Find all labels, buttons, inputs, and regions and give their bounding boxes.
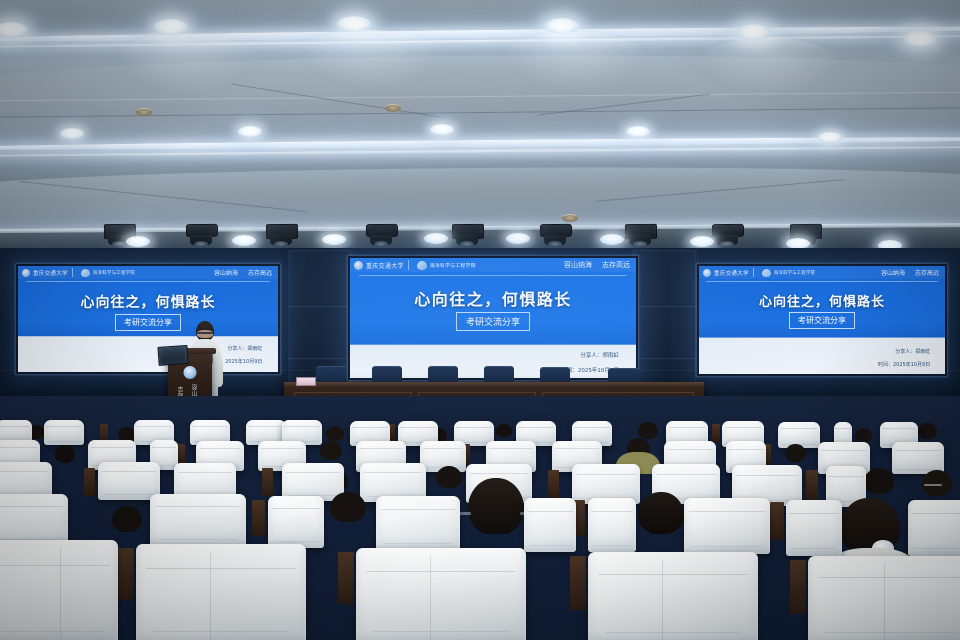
university-name: 重庆交通大学 bbox=[714, 269, 749, 277]
slide-presenter: 分享人：郑雨虹 bbox=[895, 348, 930, 355]
truss-downlight bbox=[424, 233, 448, 244]
audience-chair[interactable] bbox=[684, 498, 770, 554]
truss-downlight bbox=[322, 234, 346, 245]
left-slide: 重庆交通大学 海洋科学与工程学院 容山纳海 志存高远 心向往之，何惧路长 考研交… bbox=[18, 266, 278, 372]
light-pool bbox=[694, 38, 844, 96]
ceiling-downlight bbox=[60, 128, 84, 139]
podium-emblem-icon bbox=[184, 366, 197, 379]
seat-gap bbox=[118, 548, 134, 600]
right-screen[interactable]: 重庆交通大学 海洋科学与工程学院 容山纳海 志存高远 心向往之，何惧路长 考研交… bbox=[697, 264, 947, 376]
audience-chair[interactable] bbox=[786, 500, 842, 556]
slide-header: 重庆交通大学 海洋科学与工程学院 容山纳海 志存高远 bbox=[699, 266, 945, 279]
truss-downlight bbox=[690, 236, 714, 247]
slide-title: 心向往之，何惧路长 bbox=[699, 291, 945, 310]
logo-divider bbox=[753, 268, 754, 277]
seat-gap bbox=[84, 468, 95, 496]
laptop[interactable] bbox=[157, 345, 186, 364]
ceiling-downlight bbox=[903, 31, 937, 47]
ceiling-downlight bbox=[238, 126, 262, 137]
center-screen[interactable]: 重庆交通大学 海洋科学与工程学院 容山纳海 志存高远 心向往之，何惧路长 考研交… bbox=[348, 256, 638, 380]
audience-chair[interactable] bbox=[44, 420, 84, 445]
slide-title: 心向往之，何惧路长 bbox=[18, 292, 278, 312]
wall-seam bbox=[288, 250, 289, 396]
wave-icon bbox=[762, 269, 771, 277]
wall-seam bbox=[632, 358, 698, 359]
college-name: 海洋科学与工程学院 bbox=[430, 262, 476, 269]
slide-rule bbox=[706, 281, 937, 282]
stage-spotlight bbox=[266, 224, 296, 246]
audience-head bbox=[118, 427, 135, 441]
university-logo: 重庆交通大学 bbox=[350, 261, 404, 270]
audience-head bbox=[320, 441, 342, 460]
logo-divider bbox=[72, 268, 73, 277]
seat-gap bbox=[262, 468, 273, 496]
slide-title: 心向往之，何惧路长 bbox=[350, 286, 636, 310]
laptop-screen bbox=[157, 345, 188, 366]
university-emblem-icon bbox=[354, 261, 363, 270]
seat-gap bbox=[570, 556, 586, 610]
audience-head bbox=[112, 506, 142, 532]
audience-chair[interactable] bbox=[376, 496, 460, 550]
center-slide: 重庆交通大学 海洋科学与工程学院 容山纳海 志存高远 心向往之，何惧路长 考研交… bbox=[350, 258, 636, 378]
slide-presenter: 分享人：郑雨虹 bbox=[227, 345, 262, 352]
stage-spotlight bbox=[366, 224, 396, 246]
motto-left: 容山纳海 bbox=[564, 260, 592, 270]
slide-subtitle: 考研交流分享 bbox=[115, 314, 181, 331]
truss-downlight bbox=[506, 233, 530, 244]
audience-head bbox=[468, 478, 524, 534]
wall-panel bbox=[634, 250, 696, 396]
seat-gap bbox=[338, 552, 354, 604]
smoke-detector bbox=[385, 104, 401, 112]
audience-chair[interactable] bbox=[588, 498, 636, 552]
slide-header: 重庆交通大学 海洋科学与工程学院 容山纳海 志存高远 bbox=[350, 258, 636, 272]
right-slide: 重庆交通大学 海洋科学与工程学院 容山纳海 志存高远 心向往之，何惧路长 考研交… bbox=[699, 266, 945, 374]
audience-chair[interactable] bbox=[588, 552, 758, 640]
audience-head bbox=[864, 468, 894, 494]
audience-glasses bbox=[924, 484, 942, 486]
seat-gap bbox=[548, 470, 559, 498]
audience-head bbox=[855, 428, 872, 442]
smoke-detector bbox=[136, 108, 152, 116]
left-screen[interactable]: 重庆交通大学 海洋科学与工程学院 容山纳海 志存高远 心向往之，何惧路长 考研交… bbox=[16, 264, 280, 374]
university-name: 重庆交通大学 bbox=[33, 269, 68, 277]
college-name: 海洋科学与工程学院 bbox=[93, 270, 135, 276]
slide-date: 时间：2025年10月9日 bbox=[878, 361, 930, 368]
audience-head bbox=[638, 422, 658, 439]
slide-rule bbox=[359, 275, 628, 276]
ceiling-downlight bbox=[818, 132, 842, 143]
truss-downlight bbox=[600, 234, 624, 245]
audience-chair[interactable] bbox=[0, 540, 118, 640]
slide-subtitle: 考研交流分享 bbox=[456, 312, 530, 331]
wave-icon bbox=[417, 261, 427, 270]
chair-fold bbox=[884, 564, 885, 640]
ceiling-downlight bbox=[154, 19, 188, 35]
audience-chair[interactable] bbox=[0, 494, 68, 546]
truss-downlight bbox=[232, 235, 256, 246]
seat-gap bbox=[806, 470, 818, 500]
audience-head bbox=[326, 426, 344, 441]
college-logo: 海洋科学与工程学院 bbox=[413, 261, 476, 270]
motto-right: 志存高远 bbox=[602, 260, 630, 270]
college-name: 海洋科学与工程学院 bbox=[774, 270, 815, 276]
audience-head bbox=[638, 492, 684, 534]
wall-seam bbox=[288, 306, 354, 307]
ceiling bbox=[0, 0, 960, 252]
chair-fold bbox=[210, 552, 211, 640]
audience-head bbox=[922, 470, 952, 496]
audience-chair[interactable] bbox=[356, 548, 526, 640]
ceiling-downlight bbox=[0, 22, 28, 38]
stage-spotlight bbox=[186, 224, 216, 246]
light-pool bbox=[296, 30, 446, 88]
stage-spotlight bbox=[540, 224, 570, 246]
truss-downlight bbox=[126, 236, 150, 247]
chair-fold bbox=[430, 556, 431, 640]
slide-rule bbox=[26, 281, 270, 282]
university-name: 重庆交通大学 bbox=[366, 261, 404, 270]
slide-motto: 容山纳海 志存高远 bbox=[564, 260, 636, 270]
wall-seam bbox=[288, 358, 354, 359]
slide-motto: 容山纳海 志存高远 bbox=[214, 268, 278, 277]
university-emblem-icon bbox=[22, 269, 30, 277]
slide-header: 重庆交通大学 海洋科学与工程学院 容山纳海 志存高远 bbox=[18, 266, 278, 279]
university-emblem-icon bbox=[703, 269, 711, 277]
audience-head bbox=[436, 466, 462, 488]
university-logo: 重庆交通大学 bbox=[18, 269, 68, 277]
motto-left: 容山纳海 bbox=[881, 268, 905, 277]
audience-head bbox=[785, 444, 806, 462]
audience-head bbox=[496, 424, 512, 437]
desk-nameplate bbox=[296, 377, 316, 386]
audience-chair[interactable] bbox=[268, 496, 324, 548]
slide-presenter: 分享人：郑雨虹 bbox=[580, 351, 619, 359]
stage-spotlight bbox=[625, 224, 655, 246]
slide-subtitle: 考研交流分享 bbox=[789, 312, 855, 329]
seat-gap bbox=[712, 424, 720, 442]
stage-spotlight bbox=[712, 224, 742, 246]
college-logo: 海洋科学与工程学院 bbox=[758, 269, 815, 277]
motto-right: 志存高远 bbox=[915, 268, 939, 277]
audience-chair[interactable] bbox=[98, 462, 160, 500]
motto-left: 容山纳海 bbox=[214, 268, 238, 277]
chair-fold bbox=[662, 560, 663, 640]
light-pool bbox=[110, 34, 260, 92]
audience-head bbox=[55, 445, 75, 463]
ceiling-downlight bbox=[430, 124, 454, 135]
desk-top-edge bbox=[284, 382, 704, 387]
audience-chair[interactable] bbox=[150, 494, 246, 546]
stage-spotlight bbox=[452, 224, 482, 246]
slide-motto: 容山纳海 志存高远 bbox=[881, 268, 945, 277]
wall-seam bbox=[632, 306, 698, 307]
audience-head bbox=[918, 423, 937, 439]
light-pool bbox=[500, 32, 650, 90]
university-logo: 重庆交通大学 bbox=[699, 269, 749, 277]
speaker-glasses bbox=[197, 332, 213, 334]
seat-gap bbox=[252, 500, 265, 536]
motto-right: 志存高远 bbox=[248, 268, 272, 277]
chair-fold bbox=[60, 548, 61, 638]
wave-icon bbox=[81, 269, 90, 277]
lecture-hall-photo: 重庆交通大学 海洋科学与工程学院 容山纳海 志存高远 心向往之，何惧路长 考研交… bbox=[0, 0, 960, 640]
audience-chair[interactable] bbox=[908, 500, 960, 556]
seat-gap bbox=[770, 502, 784, 540]
ceiling-downlight bbox=[626, 126, 650, 137]
seat-gap bbox=[790, 560, 806, 614]
logo-divider bbox=[408, 260, 409, 270]
smoke-detector bbox=[562, 214, 578, 222]
audience-chair[interactable] bbox=[524, 498, 576, 552]
college-logo: 海洋科学与工程学院 bbox=[77, 269, 135, 277]
audience-chair[interactable] bbox=[136, 544, 306, 640]
audience-head bbox=[330, 492, 366, 522]
